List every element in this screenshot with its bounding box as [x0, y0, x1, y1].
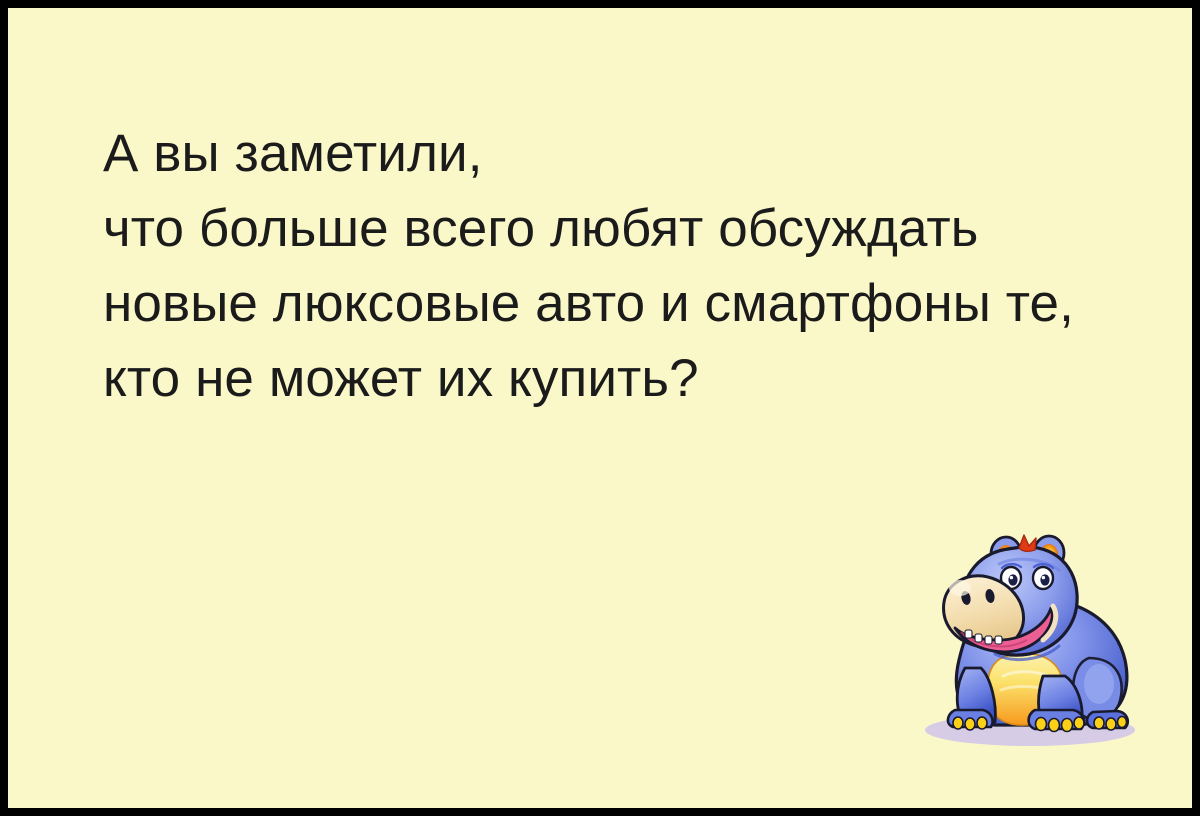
joke-line-3: новые люксовые авто и смартфоны те,	[103, 266, 1113, 341]
hippo-illustration	[903, 508, 1153, 758]
joke-line-1: А вы заметили,	[103, 116, 1113, 191]
joke-line-2: что больше всего любят обсуждать	[103, 191, 1113, 266]
meme-card: А вы заметили, что больше всего любят об…	[0, 0, 1200, 816]
joke-text-block: А вы заметили, что больше всего любят об…	[103, 116, 1113, 416]
head-tuft	[1019, 535, 1036, 551]
card-canvas: А вы заметили, что больше всего любят об…	[8, 8, 1192, 808]
foot-center	[1029, 710, 1084, 732]
foot-rear	[1087, 711, 1128, 730]
foot-left	[948, 710, 993, 730]
joke-line-4: кто не может их купить?	[103, 341, 1113, 416]
